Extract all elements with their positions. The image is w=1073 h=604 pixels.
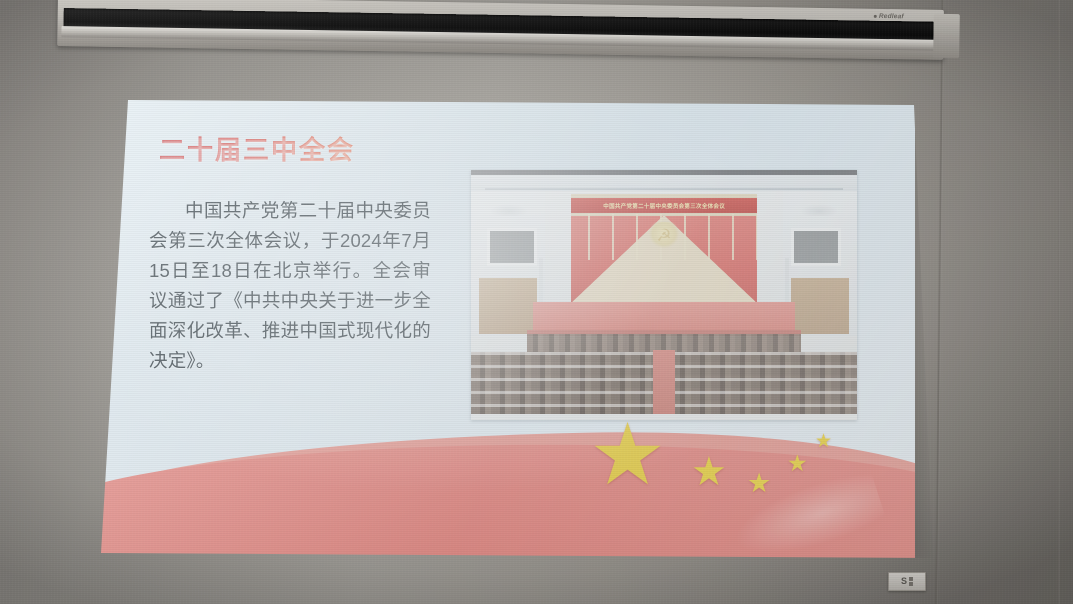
slide-canvas: ★ ★ ★ ★ ★ 二十届三中全会 中国共产党第二十届中央委员会第三次全体会议，… [97,92,915,562]
party-emblem-icon: ☭ [649,222,679,248]
wood-panel-left [479,278,537,334]
wall-ornament-left [490,204,528,216]
slide-title: 二十届三中全会 [159,130,355,167]
wall-seam-line-right [1058,0,1060,604]
hall-floor-strip [471,414,857,420]
wall-plate-dots [909,577,913,586]
conference-banner: 中国共产党第二十届中央委员会第三次全体会议 [571,198,757,213]
star-small-icon-3: ★ [787,452,808,475]
star-small-icon-2: ★ [747,470,771,497]
stage-platform [533,302,795,332]
hall-window-right [791,228,841,266]
star-small-icon-1: ★ [691,452,727,492]
conference-banner-text: 中国共产党第二十届中央委员会第三次全体会议 [603,201,725,209]
slide-body-paragraph: 中国共产党第二十届中央委员会第三次全体会议，于2024年7月15日至18日在北京… [149,196,431,376]
wall-switch-plate[interactable]: S [888,572,926,591]
wall-plate-glyph: S [901,577,907,586]
star-small-icon-4: ★ [815,432,832,451]
roller-brand-label: Redleaf [874,13,904,20]
wall-ornament-right [800,204,838,216]
star-large-icon: ★ [589,412,666,498]
five-star-motif: ★ ★ ★ ★ ★ [579,408,879,528]
hall-window-left [487,228,537,266]
roller-end-cap [933,14,960,58]
roller-brand-text: Redleaf [879,13,904,20]
screenshot-root: Redleaf S ★ ★ ★ ★ ★ 二十届三中全会 [0,0,1073,604]
projected-slide: ★ ★ ★ ★ ★ 二十届三中全会 中国共产党第二十届中央委员会第三次全体会议，… [97,92,915,562]
slide-photo-great-hall: ☭ 中国共产党第二十届中央委员会第三次全体会议 [471,170,857,420]
center-aisle-carpet [653,350,675,420]
wood-panel-right [791,278,849,334]
hall-ceiling-moulding [485,188,843,190]
